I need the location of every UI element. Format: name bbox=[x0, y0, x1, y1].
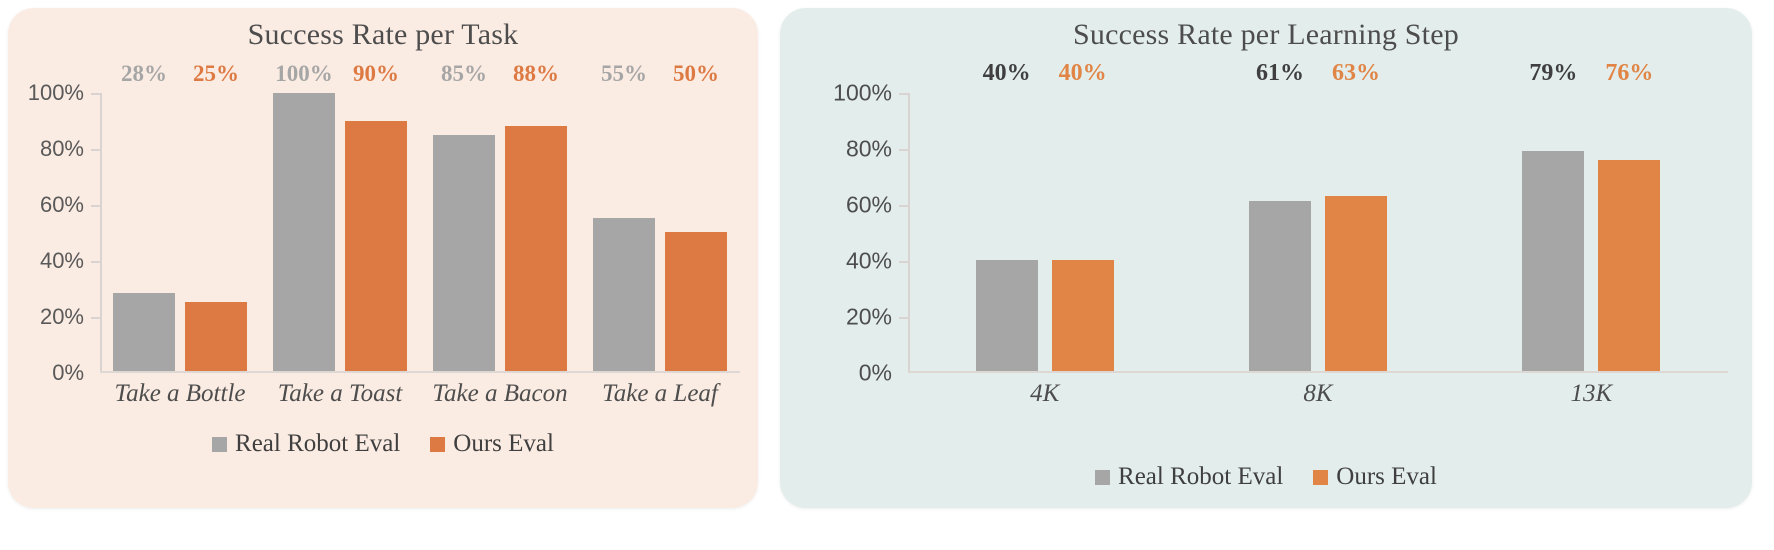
bar-group-toast: 100% 90% bbox=[260, 93, 420, 371]
chart-panel-learning-step: Success Rate per Learning Step 100% 80% … bbox=[780, 8, 1752, 508]
legend-task: Real Robot Eval Ours Eval bbox=[8, 430, 758, 458]
legend-learning-step: Real Robot Eval Ours Eval bbox=[780, 463, 1752, 491]
y-tick-label-80: 80% bbox=[40, 136, 84, 162]
legend-label-real-robot-eval: Real Robot Eval bbox=[235, 430, 400, 458]
legend-label-real-robot-eval-right: Real Robot Eval bbox=[1118, 463, 1283, 491]
bar-groups-task: 28% 25% 100% 90% bbox=[100, 93, 740, 371]
y-tick-label-right-20: 20% bbox=[846, 304, 892, 331]
bar-rect-toast-real bbox=[273, 93, 335, 371]
y-tick-right-100 bbox=[899, 93, 908, 95]
y-tick-right-20 bbox=[899, 317, 908, 319]
bar-4k-ours: 40% bbox=[1052, 93, 1114, 371]
bar-label-bottle-ours: 25% bbox=[193, 61, 239, 87]
category-label-4k: 4K bbox=[908, 380, 1181, 408]
chart-title-learning-step: Success Rate per Learning Step bbox=[780, 18, 1752, 52]
bar-rect-13k-real bbox=[1522, 151, 1584, 371]
bar-rect-8k-ours bbox=[1325, 196, 1387, 371]
plot-area-learning-step: 100% 80% 60% 40% 20% 0% 40% 40% bbox=[908, 93, 1728, 373]
y-tick-label-60: 60% bbox=[40, 192, 84, 218]
bar-group-8k: 61% 63% bbox=[1181, 93, 1454, 371]
bar-rect-8k-real bbox=[1249, 201, 1311, 371]
bar-rect-13k-ours bbox=[1598, 160, 1660, 371]
legend-swatch-gray-icon bbox=[212, 437, 227, 452]
y-tick-label-right-80: 80% bbox=[846, 136, 892, 163]
bar-bacon-ours: 88% bbox=[505, 93, 567, 371]
plot-area-task: 100% 80% 60% 40% 20% 0% 28% 25% bbox=[100, 93, 740, 373]
y-tick-right-80 bbox=[899, 149, 908, 151]
y-tick-label-right-0: 0% bbox=[859, 360, 892, 387]
y-tick-20 bbox=[91, 317, 100, 319]
legend-swatch-gray-icon bbox=[1095, 470, 1110, 485]
bar-label-4k-ours: 40% bbox=[1059, 60, 1107, 87]
bar-label-4k-real: 40% bbox=[983, 60, 1031, 87]
bar-rect-leaf-ours bbox=[665, 232, 727, 371]
legend-swatch-orange-icon bbox=[1313, 470, 1328, 485]
y-tick-100 bbox=[91, 93, 100, 95]
bar-rect-4k-real bbox=[976, 260, 1038, 371]
bar-rect-4k-ours bbox=[1052, 260, 1114, 371]
bar-label-8k-ours: 63% bbox=[1332, 60, 1380, 87]
bar-group-leaf: 55% 50% bbox=[580, 93, 740, 371]
category-label-toast: Take a Toast bbox=[260, 380, 420, 408]
y-tick-label-0: 0% bbox=[52, 360, 84, 386]
legend-swatch-orange-icon bbox=[430, 437, 445, 452]
bar-label-toast-real: 100% bbox=[275, 61, 333, 87]
bar-bacon-real: 85% bbox=[433, 93, 495, 371]
bar-label-bacon-ours: 88% bbox=[513, 61, 559, 87]
y-tick-80 bbox=[91, 149, 100, 151]
bar-rect-bottle-ours bbox=[185, 302, 247, 372]
category-label-leaf: Take a Leaf bbox=[580, 380, 740, 408]
bar-leaf-real: 55% bbox=[593, 93, 655, 371]
legend-label-ours-eval-right: Ours Eval bbox=[1336, 463, 1437, 491]
x-axis-baseline bbox=[100, 371, 740, 373]
bar-group-4k: 40% 40% bbox=[908, 93, 1181, 371]
bar-group-bottle: 28% 25% bbox=[100, 93, 260, 371]
bar-13k-ours: 76% bbox=[1598, 93, 1660, 371]
bar-label-bacon-real: 85% bbox=[441, 61, 487, 87]
bar-groups-learning-step: 40% 40% 61% 63% bbox=[908, 93, 1728, 371]
chart-board: Success Rate per Task 100% 80% 60% 40% 2… bbox=[0, 0, 1774, 550]
y-tick-label-40: 40% bbox=[40, 248, 84, 274]
bar-8k-ours: 63% bbox=[1325, 93, 1387, 371]
y-tick-label-right-40: 40% bbox=[846, 248, 892, 275]
bar-rect-bacon-ours bbox=[505, 126, 567, 371]
y-tick-right-60 bbox=[899, 205, 908, 207]
legend-item-real-robot-eval[interactable]: Real Robot Eval bbox=[212, 430, 400, 458]
y-tick-label-right-60: 60% bbox=[846, 192, 892, 219]
category-labels-learning-step: 4K 8K 13K bbox=[908, 380, 1728, 408]
bar-label-8k-real: 61% bbox=[1256, 60, 1304, 87]
category-label-13k: 13K bbox=[1455, 380, 1728, 408]
chart-title-task: Success Rate per Task bbox=[8, 18, 758, 52]
legend-item-ours-eval-right[interactable]: Ours Eval bbox=[1313, 463, 1437, 491]
category-label-bacon: Take a Bacon bbox=[420, 380, 580, 408]
bar-group-bacon: 85% 88% bbox=[420, 93, 580, 371]
category-label-bottle: Take a Bottle bbox=[100, 380, 260, 408]
legend-label-ours-eval: Ours Eval bbox=[453, 430, 554, 458]
bar-4k-real: 40% bbox=[976, 93, 1038, 371]
bar-13k-real: 79% bbox=[1522, 93, 1584, 371]
chart-panel-task: Success Rate per Task 100% 80% 60% 40% 2… bbox=[8, 8, 758, 508]
bar-toast-real: 100% bbox=[273, 93, 335, 371]
bar-label-leaf-ours: 50% bbox=[673, 61, 719, 87]
bar-label-13k-real: 79% bbox=[1529, 60, 1577, 87]
y-tick-60 bbox=[91, 205, 100, 207]
bar-label-toast-ours: 90% bbox=[353, 61, 399, 87]
bar-bottle-real: 28% bbox=[113, 93, 175, 371]
bar-label-bottle-real: 28% bbox=[121, 61, 167, 87]
y-tick-label-100: 100% bbox=[28, 80, 84, 106]
y-tick-label-right-100: 100% bbox=[833, 80, 892, 107]
bar-8k-real: 61% bbox=[1249, 93, 1311, 371]
y-tick-right-40 bbox=[899, 261, 908, 263]
bar-rect-leaf-real bbox=[593, 218, 655, 371]
category-label-8k: 8K bbox=[1181, 380, 1454, 408]
bar-group-13k: 79% 76% bbox=[1455, 93, 1728, 371]
category-labels-task: Take a Bottle Take a Toast Take a Bacon … bbox=[100, 380, 740, 408]
legend-item-real-robot-eval-right[interactable]: Real Robot Eval bbox=[1095, 463, 1283, 491]
bar-rect-bottle-real bbox=[113, 293, 175, 371]
bar-label-leaf-real: 55% bbox=[601, 61, 647, 87]
bar-rect-toast-ours bbox=[345, 121, 407, 371]
bar-toast-ours: 90% bbox=[345, 93, 407, 371]
legend-item-ours-eval[interactable]: Ours Eval bbox=[430, 430, 554, 458]
y-tick-label-20: 20% bbox=[40, 304, 84, 330]
y-tick-40 bbox=[91, 261, 100, 263]
x-axis-baseline-right bbox=[908, 371, 1728, 373]
bar-label-13k-ours: 76% bbox=[1605, 60, 1653, 87]
bar-bottle-ours: 25% bbox=[185, 93, 247, 371]
bar-leaf-ours: 50% bbox=[665, 93, 727, 371]
bar-rect-bacon-real bbox=[433, 135, 495, 371]
